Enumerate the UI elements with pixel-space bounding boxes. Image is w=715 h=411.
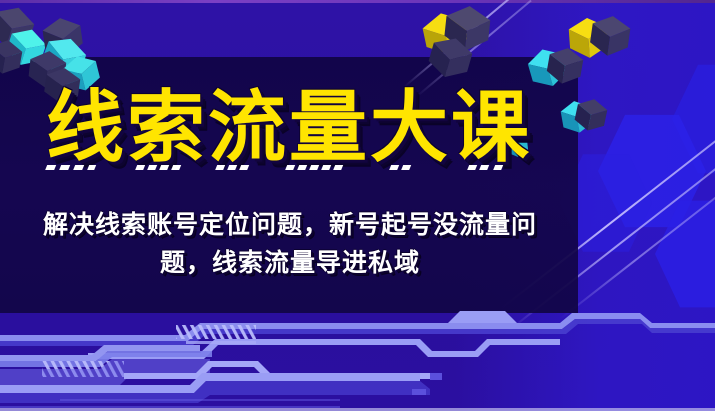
page-title: 线索流量大课 bbox=[0, 82, 578, 174]
poster-canvas: 线索流量大课 解决线索账号定位问题 bbox=[0, 0, 715, 411]
page-subtitle: 解决线索账号定位问题，新号起号没流量问 题，线索流量导进私域 bbox=[40, 206, 540, 282]
subtitle-line-2: 题，线索流量导进私域 bbox=[40, 244, 540, 282]
subtitle-line-1: 解决线索账号定位问题，新号起号没流量问 bbox=[40, 206, 540, 244]
